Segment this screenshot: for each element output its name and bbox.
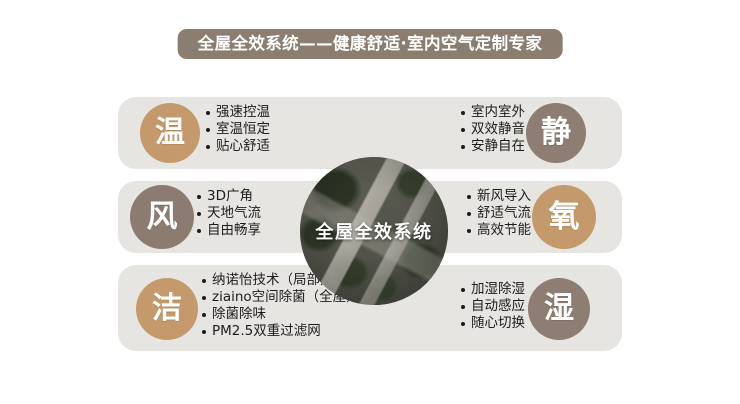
list-item: 安静自在 bbox=[460, 138, 525, 155]
list-item: 3D广角 bbox=[196, 188, 261, 205]
center-system-label: 全屋全效系统 bbox=[300, 218, 448, 244]
feature-list-oxygen: 新风导入 舒适气流 高效节能 bbox=[466, 188, 531, 239]
badge-oxygen-char: 氧 bbox=[549, 202, 580, 233]
feature-list-quiet: 室内室外 双效静音 安静自在 bbox=[460, 104, 525, 155]
list-item: PM2.5双重过滤网 bbox=[201, 323, 360, 340]
badge-clean[interactable]: 洁 bbox=[136, 278, 198, 340]
list-item: 天地气流 bbox=[196, 205, 261, 222]
list-item: 室温恒定 bbox=[205, 121, 270, 138]
list-item: 双效静音 bbox=[460, 121, 525, 138]
badge-quiet[interactable]: 静 bbox=[526, 103, 586, 163]
badge-oxygen[interactable]: 氧 bbox=[532, 185, 596, 249]
badge-wind[interactable]: 风 bbox=[130, 185, 194, 249]
feature-list-humidity: 加湿除湿 自动感应 随心切换 bbox=[460, 281, 525, 332]
list-item: 室内室外 bbox=[460, 104, 525, 121]
badge-clean-char: 洁 bbox=[152, 294, 182, 324]
page-title: 全屋全效系统——健康舒适·室内空气定制专家 bbox=[198, 36, 543, 53]
list-item: 自动感应 bbox=[460, 298, 525, 315]
title-banner: 全屋全效系统——健康舒适·室内空气定制专家 bbox=[178, 29, 563, 59]
feature-list-wind: 3D广角 天地气流 自由畅享 bbox=[196, 188, 261, 239]
infographic-root: 全屋全效系统——健康舒适·室内空气定制专家 温 强速控温 室温恒定 贴心舒适 静… bbox=[0, 0, 740, 404]
list-item: 强速控温 bbox=[205, 104, 270, 121]
list-item: 舒适气流 bbox=[466, 205, 531, 222]
feature-list-temperature: 强速控温 室温恒定 贴心舒适 bbox=[205, 104, 270, 155]
badge-temperature[interactable]: 温 bbox=[140, 103, 200, 163]
badge-humidity[interactable]: 湿 bbox=[528, 278, 590, 340]
list-item: 随心切换 bbox=[460, 315, 525, 332]
list-item: 除菌除味 bbox=[201, 306, 360, 323]
badge-temperature-char: 温 bbox=[155, 118, 185, 148]
badge-quiet-char: 静 bbox=[541, 118, 571, 148]
badge-humidity-char: 湿 bbox=[544, 294, 574, 324]
list-item: 贴心舒适 bbox=[205, 138, 270, 155]
list-item: 新风导入 bbox=[466, 188, 531, 205]
badge-wind-char: 风 bbox=[147, 202, 178, 233]
list-item: 加湿除湿 bbox=[460, 281, 525, 298]
list-item: 高效节能 bbox=[466, 222, 531, 239]
center-system-circle: 全屋全效系统 bbox=[300, 157, 448, 305]
list-item: 自由畅享 bbox=[196, 222, 261, 239]
